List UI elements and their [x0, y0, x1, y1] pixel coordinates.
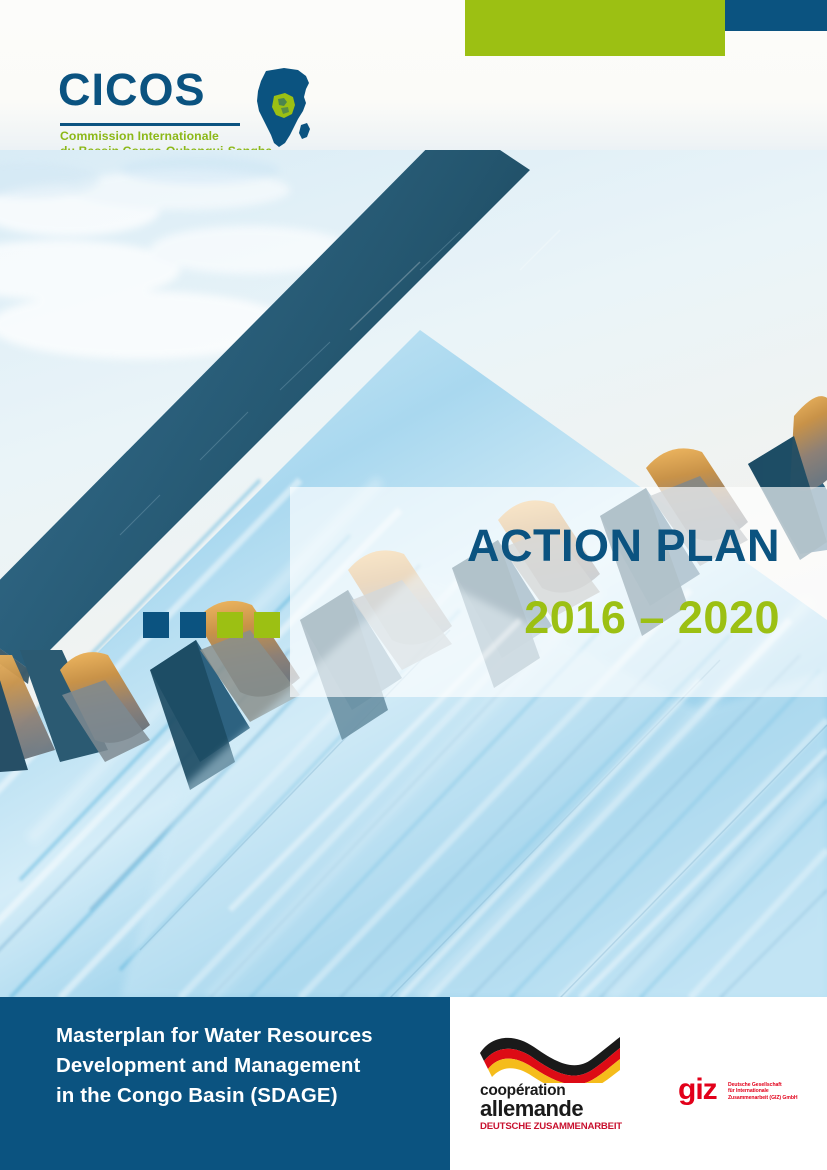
page-subtitle-years: 2016 – 2020	[290, 593, 780, 643]
square-marker-2	[180, 612, 206, 638]
logo-divider-rule	[60, 123, 240, 126]
cicos-wordmark: CICOS	[58, 66, 206, 114]
giz-wordmark: giz	[678, 1074, 717, 1106]
square-marker-3	[217, 612, 243, 638]
german-cooperation-logo: coopération allemande DEUTSCHE ZUSAMMENA…	[472, 1031, 632, 1134]
square-marker-4	[254, 612, 280, 638]
document-cover-page: CICOS Commission Internationale du Bassi…	[0, 0, 827, 1170]
giz-tagline: Deutsche Gesellschaft für Internationale…	[728, 1082, 803, 1101]
german-flag-ribbon-icon	[474, 1031, 626, 1083]
header-green-block	[465, 0, 725, 56]
footer-subtitle: Masterplan for Water Resources Developme…	[56, 1021, 436, 1111]
square-marker-1	[143, 612, 169, 638]
coop-line-3: DEUTSCHE ZUSAMMENARBEIT	[480, 1121, 622, 1132]
square-markers	[143, 612, 280, 638]
giz-logo: giz Deutsche Gesellschaft für Internatio…	[678, 1078, 800, 1110]
coop-line-2: allemande	[480, 1097, 583, 1121]
page-title: ACTION PLAN	[290, 521, 780, 571]
